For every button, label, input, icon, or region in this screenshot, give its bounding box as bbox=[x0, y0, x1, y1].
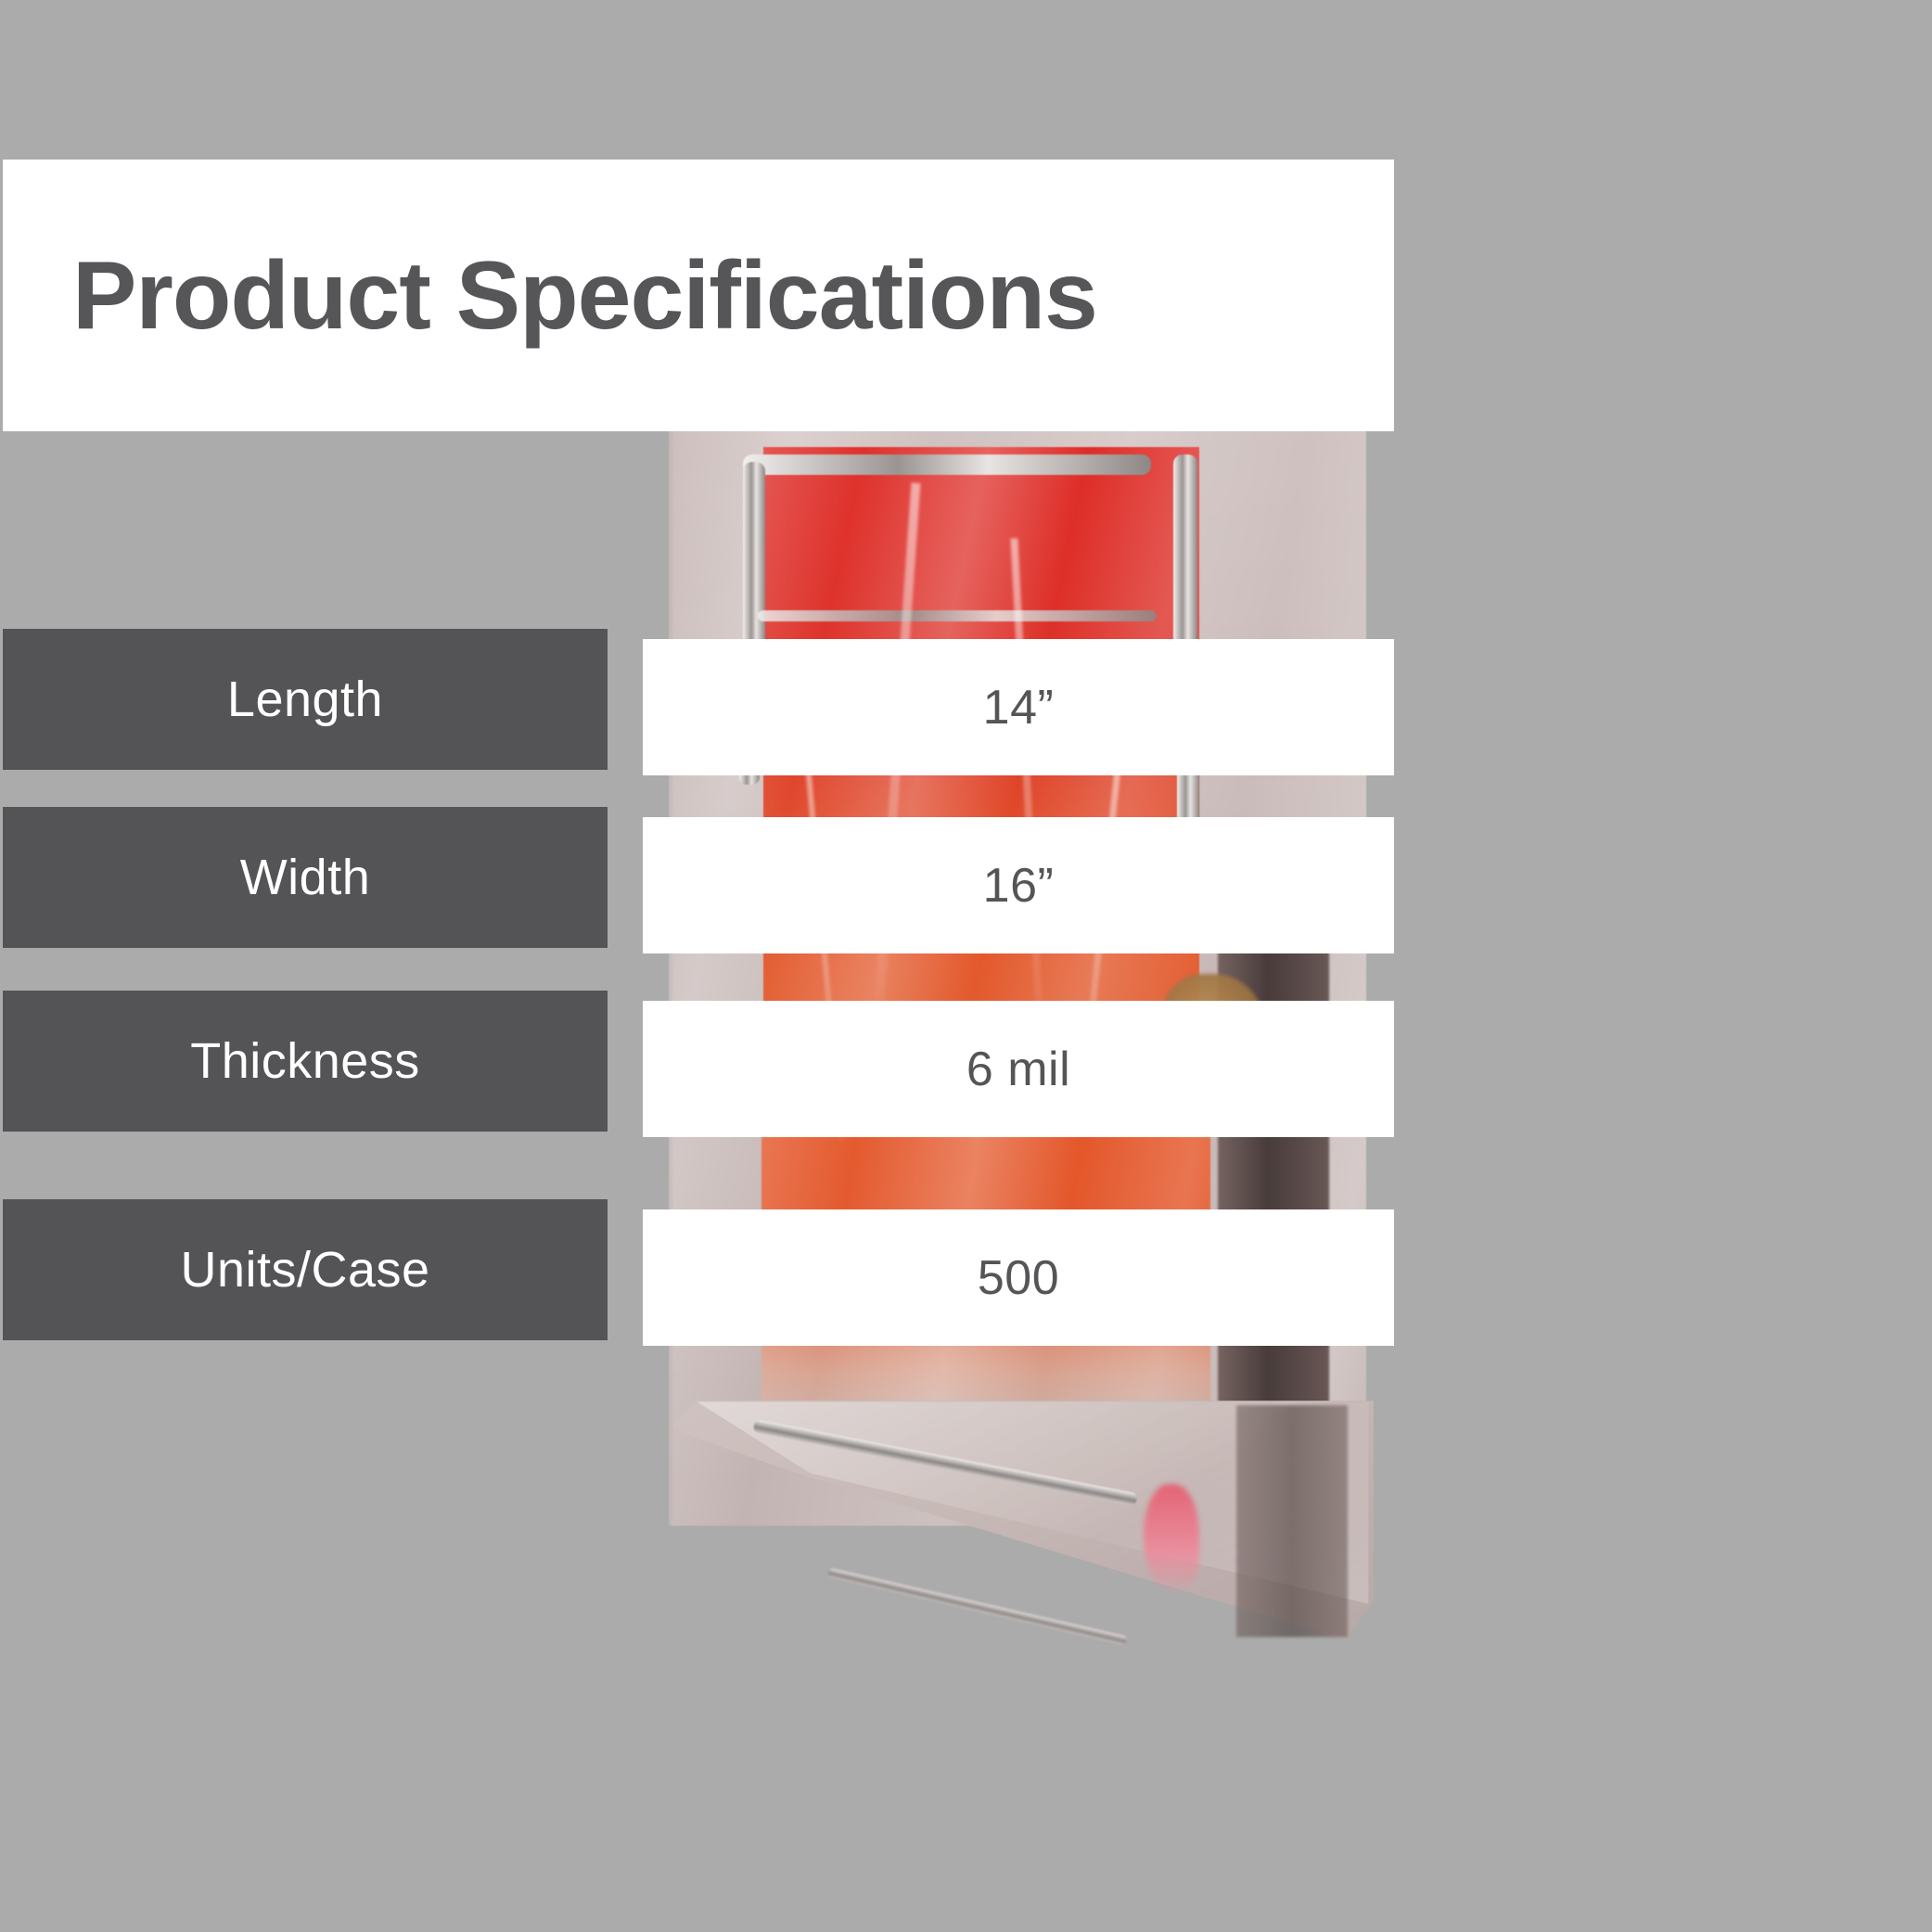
spec-value-box: 6 mil bbox=[643, 1001, 1394, 1137]
spec-label-box: Length bbox=[3, 629, 608, 770]
title-banner: Product Specifications bbox=[3, 160, 1394, 431]
spec-value-text: 16” bbox=[983, 862, 1055, 910]
spec-row-width: Width 16” bbox=[0, 807, 1394, 957]
spec-label-box: Width bbox=[3, 807, 608, 948]
spec-label-box: Thickness bbox=[3, 991, 608, 1132]
spec-label-text: Thickness bbox=[190, 1036, 420, 1086]
spec-label-text: Units/Case bbox=[180, 1245, 429, 1295]
spec-label-box: Units/Case bbox=[3, 1199, 608, 1340]
spec-row-length: Length 14” bbox=[0, 629, 1394, 779]
spec-value-box: 500 bbox=[643, 1209, 1394, 1346]
spec-value-box: 16” bbox=[643, 817, 1394, 953]
spec-label-text: Length bbox=[227, 674, 383, 724]
spec-row-thickness: Thickness 6 mil bbox=[0, 991, 1394, 1141]
chrome-rail-middle bbox=[758, 610, 1157, 621]
spec-value-text: 6 mil bbox=[966, 1045, 1070, 1094]
chrome-bar-lowest bbox=[827, 1567, 1128, 1645]
infographic-canvas: Product Specifications Length 14” Width … bbox=[0, 0, 1932, 1932]
spec-row-units-per-case: Units/Case 500 bbox=[0, 1199, 1394, 1350]
spec-label-text: Width bbox=[240, 852, 371, 902]
spec-value-box: 14” bbox=[643, 639, 1394, 775]
bag-shadow-strip bbox=[1236, 1405, 1348, 1637]
spec-value-text: 500 bbox=[978, 1254, 1059, 1302]
chrome-rail-top bbox=[743, 454, 1151, 475]
spec-value-text: 14” bbox=[983, 684, 1055, 732]
page-title: Product Specifications bbox=[72, 248, 1097, 344]
